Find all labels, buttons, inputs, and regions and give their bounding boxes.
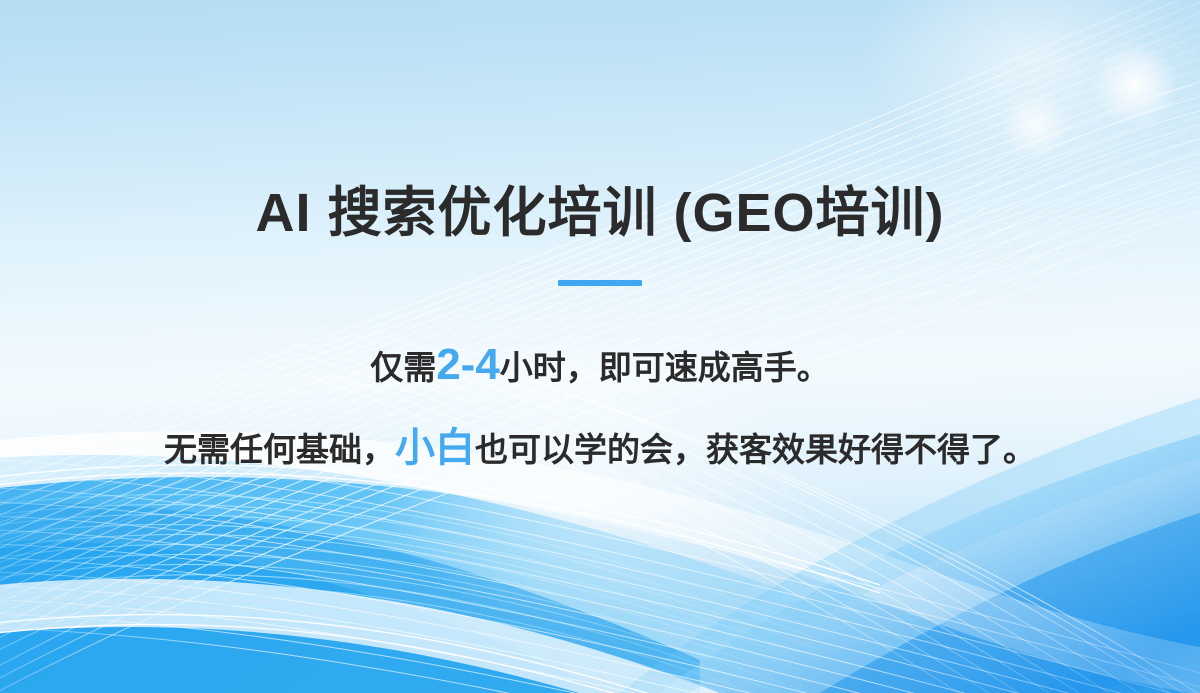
subtitle-2-after: 也可以学的会，获客效果好得不得了。 — [475, 431, 1036, 468]
subtitle-2-before: 无需任何基础， — [164, 431, 395, 468]
page-title: AI 搜索优化培训 (GEO培训) — [0, 168, 1200, 247]
subtitle-line-2: 无需任何基础，小白也可以学的会，获客效果好得不得了。 — [0, 415, 1200, 473]
banner-root: AI 搜索优化培训 (GEO培训) 仅需2-4小时，即可速成高手。 无需任何基础… — [0, 0, 1200, 693]
subtitle-1-highlight: 2-4 — [436, 340, 500, 389]
subtitle-2-highlight: 小白 — [395, 426, 475, 470]
banner-content: AI 搜索优化培训 (GEO培训) 仅需2-4小时，即可速成高手。 无需任何基础… — [0, 0, 1200, 693]
subtitle-1-before: 仅需 — [370, 349, 436, 386]
subtitle-1-after: 小时，即可速成高手。 — [500, 349, 830, 386]
subtitle-line-1: 仅需2-4小时，即可速成高手。 — [0, 340, 1200, 390]
title-divider — [558, 280, 642, 286]
